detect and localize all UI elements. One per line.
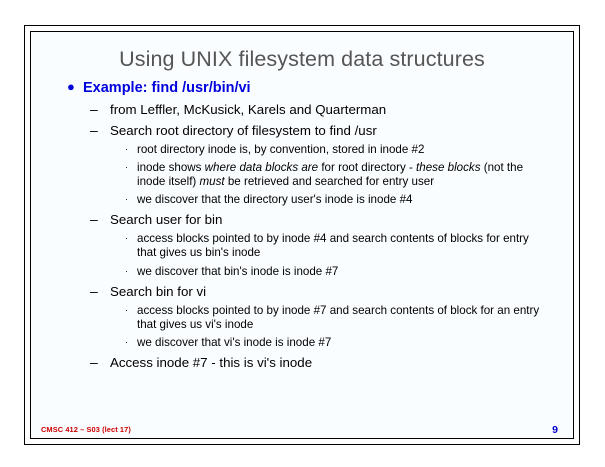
bullet-item-l2: –Search bin for vi: [31, 284, 573, 300]
bullet-text: we discover that bin's inode is inode #7: [137, 265, 338, 278]
bullet-item-l3: ·access blocks pointed to by inode #7 an…: [31, 304, 573, 332]
bullet-text: Search bin for vi: [110, 284, 206, 299]
bullet-text-segment: these blocks: [416, 161, 480, 174]
bullet-item-l1: ●Example: find /usr/bin/vi: [31, 80, 573, 97]
bullet-text: root directory inode is, by convention, …: [137, 143, 424, 156]
page-title: Using UNIX filesystem data structures: [31, 32, 573, 71]
small-dot-bullet: ·: [125, 265, 128, 277]
bullet-text: we discover that vi's inode is inode #7: [137, 336, 331, 349]
slide-outer-frame: Using UNIX filesystem data structures ●E…: [24, 25, 580, 445]
bullet-item-l3: ·access blocks pointed to by inode #4 an…: [31, 232, 573, 260]
small-dot-bullet: ·: [125, 304, 128, 316]
footer-page-number: 9: [552, 424, 558, 436]
small-dot-bullet: ·: [125, 193, 128, 205]
small-dot-bullet: ·: [125, 336, 128, 348]
bullet-text: we discover that the directory user's in…: [137, 193, 412, 206]
bullet-item-l2: –Search user for bin: [31, 212, 573, 228]
slide-inner-frame: Using UNIX filesystem data structures ●E…: [30, 31, 574, 439]
filled-circle-bullet: ●: [67, 80, 75, 95]
bullet-list: ●Example: find /usr/bin/vi–from Leffler,…: [31, 80, 573, 371]
bullet-item-l3: ·root directory inode is, by convention,…: [31, 143, 573, 157]
bullet-item-l3: ·inode shows where data blocks are for r…: [31, 161, 573, 189]
small-dot-bullet: ·: [125, 232, 128, 244]
en-dash-bullet: –: [90, 211, 98, 228]
bullet-text: Example: find /usr/bin/vi: [83, 80, 251, 96]
small-dot-bullet: ·: [125, 161, 128, 173]
bullet-item-l3: ·we discover that vi's inode is inode #7: [31, 336, 573, 350]
en-dash-bullet: –: [90, 122, 98, 139]
slide-content-area: Using UNIX filesystem data structures ●E…: [31, 32, 573, 438]
bullet-text-segment: where data blocks are: [205, 161, 318, 174]
bullet-text-segment: be retrieved and searched for entry user: [225, 175, 434, 188]
bullet-text: from Leffler, McKusick, Karels and Quart…: [110, 102, 386, 117]
bullet-item-l3: ·we discover that the directory user's i…: [31, 193, 573, 207]
small-dot-bullet: ·: [125, 143, 128, 155]
bullet-text: inode shows where data blocks are for ro…: [137, 161, 523, 188]
bullet-text-segment: for root directory -: [318, 161, 416, 174]
bullet-text: access blocks pointed to by inode #4 and…: [137, 232, 529, 259]
bullet-text-segment: inode shows: [137, 161, 205, 174]
bullet-text: access blocks pointed to by inode #7 and…: [137, 304, 539, 331]
en-dash-bullet: –: [90, 283, 98, 300]
bullet-item-l3: ·we discover that bin's inode is inode #…: [31, 265, 573, 279]
en-dash-bullet: –: [90, 354, 98, 371]
bullet-item-l2: –from Leffler, McKusick, Karels and Quar…: [31, 102, 573, 118]
bullet-text-segment: must: [200, 175, 225, 188]
bullet-text: Search root directory of filesystem to f…: [110, 123, 377, 138]
bullet-item-l2: –Search root directory of filesystem to …: [31, 123, 573, 139]
bullet-item-l2: –Access inode #7 - this is vi's inode: [31, 355, 573, 371]
slide-footer: CMSC 412 – S03 (lect 17) 9: [36, 416, 568, 438]
footer-course-label: CMSC 412 – S03 (lect 17): [41, 425, 131, 434]
en-dash-bullet: –: [90, 101, 98, 118]
bullet-text: Search user for bin: [110, 212, 222, 227]
bullet-text: Access inode #7 - this is vi's inode: [110, 355, 312, 370]
